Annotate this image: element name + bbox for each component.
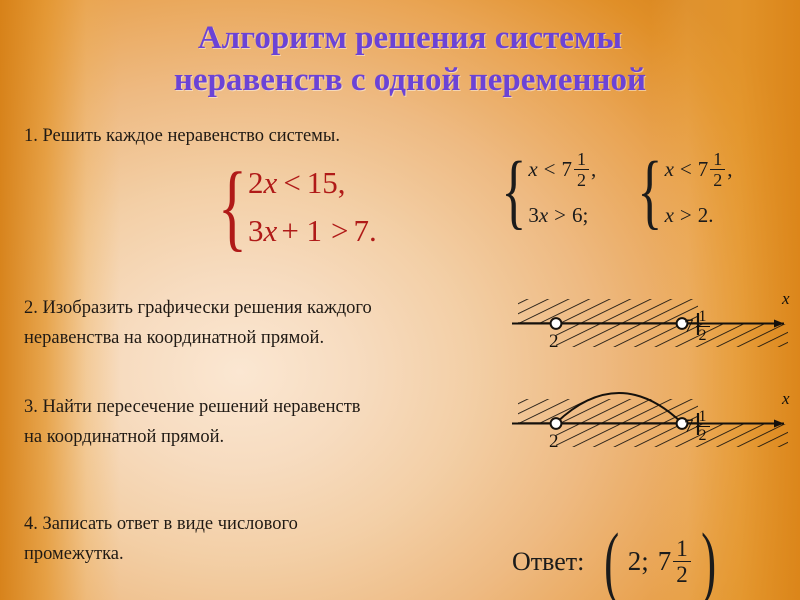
tick-right-numerator: 1 (696, 409, 710, 426)
simplified-systems-group: { x < 7 1 2 , 3 x > 6 ; (486, 146, 733, 238)
sysb1-whole: 7 (698, 157, 709, 182)
answer-block: Ответ: ( 2; 7 1 2 ) (512, 530, 722, 594)
eq2-coefficient: 3 (248, 213, 264, 249)
system-a-brace: { (501, 150, 526, 234)
sysb2-relation: > (674, 203, 698, 228)
eq2-punct: . (369, 213, 377, 249)
sysa1-denominator: 2 (574, 169, 589, 189)
hatch-region-above (518, 299, 698, 323)
open-circle-left (551, 318, 562, 329)
sysb1-fraction: 1 2 (710, 150, 725, 189)
answer-right-whole: 7 (658, 546, 672, 577)
sysb2-punct: . (708, 203, 713, 228)
tick-label-right: 7 1 2 (684, 309, 712, 344)
sysb1-punct: , (727, 157, 732, 182)
axis-label-x: x (782, 389, 790, 409)
system-b-brace: { (638, 150, 663, 234)
tick-right-fraction: 1 2 (696, 309, 710, 344)
sysa1-relation: < (538, 157, 562, 182)
sysb1-denominator: 2 (710, 169, 725, 189)
number-line-separate-solutions: x 2 7 1 2 (498, 283, 800, 375)
answer-interval: 2; 7 1 2 (626, 537, 695, 586)
number-line-intersection: x 2 7 1 2 (498, 373, 800, 485)
system-brace: { (218, 158, 247, 256)
slide-canvas: Алгоритм решения системы неравенств с од… (0, 0, 800, 600)
tick-right-fraction: 1 2 (696, 409, 710, 444)
axis-label-x: x (782, 289, 790, 309)
sysa1-numerator: 1 (574, 150, 589, 169)
sysb1-relation: < (674, 157, 698, 182)
equation-line-2: 3 x + 1 > 7 . (248, 207, 377, 255)
step-2-text: 2. Изобразить графически решения каждого… (24, 294, 474, 354)
sysb1-variable: x (665, 157, 674, 182)
tick-right-whole: 7 (684, 416, 694, 438)
system-a-line-1: x < 7 1 2 , (528, 146, 596, 192)
step-4-text: 4. Записать ответ в виде числового проме… (24, 510, 464, 570)
tick-right-numerator: 1 (696, 309, 710, 326)
tick-right-denominator: 2 (696, 326, 710, 344)
answer-right-fraction: 1 2 (673, 537, 691, 586)
hatch-region-below (556, 424, 788, 447)
sysa2-coefficient: 3 (528, 203, 539, 228)
sysb2-rhs: 2 (698, 203, 709, 228)
open-circle-left (551, 418, 562, 429)
answer-left-endpoint: 2; (628, 546, 649, 577)
answer-label: Ответ: (512, 547, 584, 577)
system-a-line-2: 3 x > 6 ; (528, 192, 596, 238)
hatch-region-above (518, 399, 698, 423)
original-system-equation: { 2 x < 15 , 3 x + 1 > 7 . (200, 158, 377, 256)
sysb1-numerator: 1 (710, 150, 725, 169)
sysa1-punct: , (591, 157, 596, 182)
sysa1-whole: 7 (562, 157, 573, 182)
eq2-relation: > (326, 213, 353, 249)
sysa1-fraction: 1 2 (574, 150, 589, 189)
answer-close-paren: ) (701, 530, 716, 594)
title-line-2: неравенств с одной переменной (60, 60, 760, 102)
eq1-rhs: 15 (307, 165, 338, 201)
eq1-variable: x (264, 165, 278, 201)
hatch-region-below (556, 324, 788, 347)
sysb2-variable: x (665, 203, 674, 228)
eq2-plus-term: + 1 (277, 213, 326, 249)
sysa2-rhs: 6 (572, 203, 583, 228)
simplified-system-a: { x < 7 1 2 , 3 x > 6 ; (486, 146, 596, 238)
simplified-system-b: { x < 7 1 2 , x > 2 . (622, 146, 732, 238)
sysa2-punct: ; (583, 203, 589, 228)
system-b-line-1: x < 7 1 2 , (665, 146, 733, 192)
eq2-rhs: 7 (354, 213, 370, 249)
answer-right-numerator: 1 (673, 537, 691, 561)
tick-label-left: 2 (549, 331, 559, 353)
step-1-text: 1. Решить каждое неравенство системы. (24, 122, 444, 152)
eq1-coefficient: 2 (248, 165, 264, 201)
tick-right-whole: 7 (684, 316, 694, 338)
eq2-variable: x (264, 213, 278, 249)
tick-right-denominator: 2 (696, 426, 710, 444)
eq1-relation: < (277, 165, 306, 201)
step-3-text: 3. Найти пересечение решений неравенств … (24, 393, 484, 453)
sysa2-variable: x (539, 203, 548, 228)
eq1-punct: , (338, 165, 346, 201)
title-line-1: Алгоритм решения системы (60, 18, 760, 60)
page-title: Алгоритм решения системы неравенств с од… (60, 18, 760, 101)
answer-right-denominator: 2 (673, 561, 691, 586)
system-b-line-2: x > 2 . (665, 192, 733, 238)
answer-open-paren: ( (605, 530, 620, 594)
sysa2-relation: > (548, 203, 572, 228)
tick-label-right: 7 1 2 (684, 409, 712, 444)
tick-label-left: 2 (549, 431, 559, 453)
equation-line-1: 2 x < 15 , (248, 159, 377, 207)
sysa1-variable: x (528, 157, 537, 182)
